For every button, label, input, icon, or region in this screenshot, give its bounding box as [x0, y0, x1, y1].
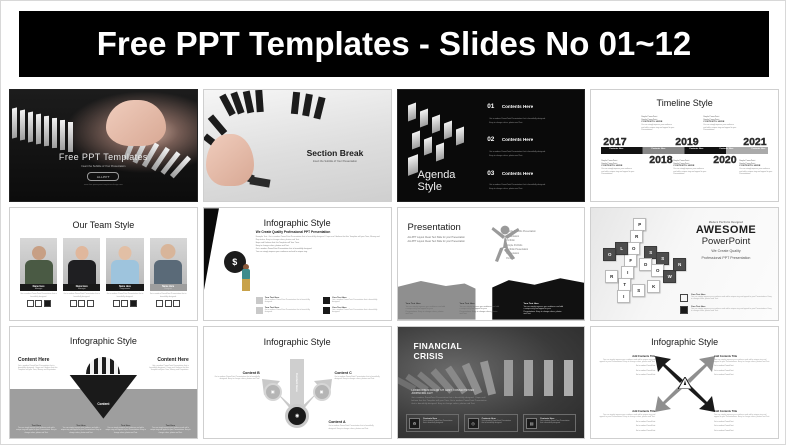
quadrant-link[interactable]: Get a modern PowerPoint	[714, 421, 772, 423]
agenda-item-heading: Contents Here	[502, 171, 533, 176]
content-a-desc: Get a modern PowerPoint Presentation tha…	[329, 425, 377, 430]
left-content: Content Here Get a modern PowerPoint Pre…	[18, 357, 58, 372]
content-b-label: Content B Get a modern PowerPoint Presen…	[212, 371, 260, 381]
slide-thumbnail-09[interactable]: Infographic Style Content Here Get a mod…	[9, 326, 198, 439]
slide-07-title: Presentation	[408, 222, 461, 233]
cell-desc: You can simply impress your audience and…	[105, 427, 146, 434]
content-cell[interactable]: Text Here You can simply impress your au…	[150, 425, 191, 434]
quadrant-desc: You can simply impress your audience and…	[597, 359, 655, 364]
letter-tiles-photo: P R O F I T L O S S D O W N R I S K	[599, 218, 685, 304]
cell-desc: Get a modern PowerPoint Presentation tha…	[423, 420, 456, 425]
slide-11-title: FINANCIAL CRISIS	[414, 341, 463, 362]
content-a-title: Content A	[329, 420, 377, 424]
cell-desc: You can simply impress your audience and…	[61, 427, 102, 434]
quadrant-link[interactable]: Get a modern PowerPoint	[597, 365, 655, 367]
team-name-badge: Name Here Manager	[20, 284, 57, 291]
team-card[interactable]: Name Here Designer Get a modern PowerPoi…	[150, 238, 187, 307]
timeline-chip: Contents Here	[719, 148, 733, 150]
cell-desc: Get a modern PowerPoint Presentation tha…	[482, 420, 515, 425]
timeline-block-heading: CONTENTS HERE	[601, 165, 635, 167]
bottom-text-box: Your Text Here You can simply impress yo…	[406, 303, 446, 316]
slide-04-title: Timeline Style	[591, 98, 778, 108]
domino-curve-photo	[204, 90, 391, 201]
timeline-block-top: Simple PowerPoint Simple PowerPoint CONT…	[641, 116, 675, 132]
slide-06-heading: We Create Quality Professional PPT Prese…	[256, 230, 385, 234]
slide-grid: Free PPT Templates Insert the Subtitle o…	[9, 89, 779, 439]
slide-thumbnail-10[interactable]: Infographic Style Content Here ▣ ▣ ◉ Con…	[203, 326, 392, 439]
agenda-item[interactable]: 02 Contents Here Get a modern PowerPoint…	[487, 131, 579, 157]
page-root: Free PPT Templates - Slides No 01~12	[0, 0, 786, 445]
cell-desc: Get a modern PowerPoint Presentation tha…	[540, 420, 573, 425]
content-cell[interactable]: Text Here You can simply impress your au…	[61, 425, 102, 434]
team-photo	[106, 238, 143, 284]
quadrant-title: Add Contents Title	[714, 355, 772, 358]
letter-tile: I	[617, 290, 630, 303]
team-card-list: Name Here Manager Get a modern PowerPoin…	[20, 238, 187, 307]
cell-icon	[323, 297, 330, 304]
team-card[interactable]: Name Here Programmer Get a modern PowerP…	[106, 238, 143, 307]
content-c-desc: Get a modern PowerPoint Presentation tha…	[335, 376, 383, 381]
social-icons[interactable]	[106, 300, 143, 307]
team-role: Designer	[150, 288, 187, 290]
slide-01-subtitle: Insert the Subtitle of Your Presentation	[10, 165, 197, 168]
right-heading: Content Here	[149, 357, 189, 363]
letter-tile: S	[632, 284, 645, 297]
letter-tile: O	[603, 248, 616, 261]
cell-desc: Get a modern PowerPoint Presentation tha…	[265, 299, 317, 304]
cell-desc: Get a modern PowerPoint Presentation tha…	[265, 309, 317, 314]
social-icons[interactable]	[63, 300, 100, 307]
slide-thumbnail-02[interactable]: Section Break Insert the Subtitle of You…	[203, 89, 392, 202]
bottom-text-box: Your Text Here You can simply impress yo…	[524, 303, 564, 316]
timeline-block-bottom: Simple PowerPoint Simple PowerPoint CONT…	[673, 160, 707, 176]
quadrant-link[interactable]: Get a modern PowerPoint	[714, 430, 772, 432]
content-cell[interactable]: ◎ Contents Here Get a modern PowerPoint …	[464, 414, 518, 432]
agenda-item-line2: Easy to change colors, photos and Text.	[487, 122, 579, 125]
hand-illustration	[106, 100, 166, 146]
linkedin-icon[interactable]	[121, 300, 128, 307]
slide-11-title-line2: CRISIS	[414, 351, 463, 362]
twitter-icon[interactable]	[113, 300, 120, 307]
quadrant-link[interactable]: Get a modern PowerPoint	[714, 374, 772, 376]
slide-11-cells: ⚙ Contents Here Get a modern PowerPoint …	[406, 414, 577, 432]
timeline-block-bottom: Simple PowerPoint Simple PowerPoint CONT…	[739, 160, 773, 176]
header-banner: Free PPT Templates - Slides No 01~12	[19, 11, 769, 77]
gear-icon: ⚙	[409, 418, 420, 429]
facebook-icon[interactable]	[130, 300, 137, 307]
agenda-item-line1: Get a modern PowerPoint Presentation tha…	[487, 151, 579, 154]
quadrant-desc: You can simply impress your audience and…	[597, 414, 655, 419]
slide-02-title: Section Break	[288, 148, 383, 158]
timeline-chip: Contents Here	[651, 148, 665, 150]
timeline-block-heading: CONTENTS HERE	[673, 165, 707, 167]
slide-09-title: Infographic Style	[10, 336, 197, 346]
team-role: Programmer	[106, 288, 143, 290]
node-c-icon[interactable]: ▣	[313, 383, 331, 401]
agenda-item-line1: Get a modern PowerPoint Presentation tha…	[487, 118, 579, 121]
slide-06-cells: Your Text Here Get a modern PowerPoint P…	[256, 297, 385, 314]
team-card[interactable]: Name Here Manager Get a modern PowerPoin…	[20, 238, 57, 307]
timeline-block-body: You can simply impress your audience and…	[739, 168, 773, 176]
content-cell[interactable]: Text Here You can simply impress your au…	[16, 425, 57, 434]
agenda-item-number: 01	[487, 103, 494, 110]
quadrant-link[interactable]: Get a modern PowerPoint	[597, 425, 655, 427]
cell-icon	[256, 307, 263, 314]
box-desc: You can simply impress your audience and…	[406, 306, 446, 316]
slide-07-subtitle: ALLPPT Layout Clean Text Slide for your …	[408, 236, 470, 242]
timeline-year-2021: 2021	[743, 136, 766, 148]
agenda-item[interactable]: 03 Contents Here Get a modern PowerPoint…	[487, 164, 579, 190]
twitter-icon[interactable]	[70, 300, 77, 307]
node-b-icon[interactable]: ▣	[264, 383, 282, 401]
content-c-title: Content C	[335, 371, 383, 375]
team-name-badge: Name Here Programmer	[106, 284, 143, 291]
timeline-year-2018: 2018	[649, 154, 672, 166]
timeline-chip: Contents Here	[689, 148, 703, 150]
content-b-title: Content B	[212, 371, 260, 375]
agenda-item-number: 03	[487, 170, 494, 177]
globe-icon: ◎	[468, 418, 479, 429]
stem-arrow: Content Here	[290, 359, 304, 407]
quadrant-top-left: Add Contents Title You can simply impres…	[597, 355, 655, 377]
quadrant-title: Add Contents Title	[597, 355, 655, 358]
letter-tile: K	[647, 280, 660, 293]
quadrant-link[interactable]: Get a modern PowerPoint	[597, 370, 655, 372]
content-cell[interactable]: Your Text Here Get a modern PowerPoint P…	[323, 297, 384, 304]
slide-thumbnail-12[interactable]: Infographic Style Add Contents Title You…	[590, 326, 779, 439]
agenda-item-heading: Contents Here	[502, 104, 533, 109]
agenda-title-line2: Style	[418, 181, 456, 193]
quadrant-title: Add Contents Title	[597, 410, 655, 413]
letter-tile: W	[663, 270, 676, 283]
slide-thumbnail-08[interactable]: P R O F I T L O S S D O W N R I S K Mode…	[590, 207, 779, 320]
right-content: Content Here Get a modern PowerPoint Pre…	[149, 357, 189, 372]
content-cell[interactable]: Your Text Here Get a modern PowerPoint P…	[256, 297, 317, 304]
timeline-block-heading: CONTENTS HERE	[739, 165, 773, 167]
team-desc: Get a modern PowerPoint Presentation tha…	[106, 293, 143, 298]
team-name-badge: Name Here Manager	[63, 284, 100, 291]
slide-thumbnail-07[interactable]: Presentation ALLPPT Layout Clean Text Sl…	[397, 207, 586, 320]
timeline-chip: Contents Here	[751, 148, 765, 150]
content-c-label: Content C Get a modern PowerPoint Presen…	[335, 371, 383, 381]
timeline-block-body: You can simply impress your audience and…	[641, 124, 675, 132]
slide-08-title-awesome: AWESOME	[680, 224, 772, 236]
timeline-year-2017: 2017	[603, 136, 626, 148]
twitter-icon[interactable]	[27, 300, 34, 307]
checkbox-icon[interactable]	[680, 294, 688, 302]
content-a-label: Content A Get a modern PowerPoint Presen…	[329, 420, 377, 430]
linkedin-icon[interactable]	[35, 300, 42, 307]
quadrant-desc: You can simply impress your audience and…	[714, 359, 772, 364]
quadrant-title: Add Contents Title	[714, 410, 772, 413]
slide-12-title: Infographic Style	[591, 337, 778, 347]
box-desc: You can simply impress your audience and…	[460, 306, 500, 316]
page-title: Free PPT Templates - Slides No 01~12	[97, 25, 692, 63]
slide-01-url: www.free-powerpoint-templates-design.com	[10, 184, 197, 186]
content-b-desc: Get a modern PowerPoint Presentation tha…	[212, 376, 260, 381]
quadrant-link[interactable]: Get a modern PowerPoint	[597, 421, 655, 423]
row-desc: You can simply impress your audience and…	[691, 296, 772, 301]
facebook-icon[interactable]	[87, 300, 94, 307]
agenda-item-heading: Contents Here	[502, 137, 533, 142]
allppt-logo: ALLPPT	[87, 172, 119, 181]
cell-icon	[323, 307, 330, 314]
timeline-chip: Contents Here	[609, 148, 623, 150]
slide-09-cells: Text Here You can simply impress your au…	[16, 425, 191, 434]
timeline-block-heading: CONTENTS HERE	[641, 121, 675, 123]
team-desc: Get a modern PowerPoint Presentation tha…	[20, 293, 57, 298]
quadrant-desc: You can simply impress your audience and…	[714, 414, 772, 419]
cell-icon	[256, 297, 263, 304]
content-cell[interactable]: Your Text Here Get a modern PowerPoint P…	[323, 307, 384, 314]
slide-06-text: We Create Quality Professional PPT Prese…	[256, 230, 385, 253]
timeline-block-heading: CONTENTS HERE	[703, 121, 737, 123]
team-card[interactable]: Name Here Manager Get a modern PowerPoin…	[63, 238, 100, 307]
timeline-block-top: Simple PowerPoint Simple PowerPoint CONT…	[703, 116, 737, 132]
quadrant-bottom-right: Add Contents Title You can simply impres…	[714, 410, 772, 432]
agenda-item[interactable]: 04 Contents Here Get a modern PowerPoint…	[487, 198, 579, 203]
linkedin-icon[interactable]	[165, 300, 172, 307]
hand-illustration	[206, 134, 254, 186]
bottom-text-box: Your Text Here You can simply impress yo…	[460, 303, 500, 316]
slide-08-title-powerpoint: PowerPoint	[680, 236, 772, 247]
timeline-year-2019: 2019	[675, 136, 698, 148]
checkbox-icon[interactable]	[680, 306, 688, 314]
timeline-block-bottom: Simple PowerPoint Simple PowerPoint CONT…	[601, 160, 635, 176]
slide-08-rows: Your Text Here You can simply impress yo…	[680, 290, 772, 314]
quadrant-link[interactable]: Get a modern PowerPoint	[597, 374, 655, 376]
timeline-track	[601, 147, 768, 154]
agenda-item-line1: Get a modern PowerPoint Presentation tha…	[487, 184, 579, 187]
quadrant-link[interactable]: Get a modern PowerPoint	[597, 430, 655, 432]
umbrella-icon	[86, 357, 120, 374]
content-row[interactable]: Your Text Here You can simply impress yo…	[680, 294, 772, 302]
content-cell[interactable]: ▤ Contents Here Get a modern PowerPoint …	[523, 414, 577, 432]
facebook-icon[interactable]	[44, 300, 51, 307]
quadrant-bottom-left: Add Contents Title You can simply impres…	[597, 410, 655, 432]
box-desc: You can simply impress your audience and…	[524, 306, 564, 316]
team-photo	[63, 238, 100, 284]
slide-02-caption: Section Break Insert the Subtitle of You…	[288, 148, 383, 163]
slide-05-title: Our Team Style	[10, 220, 197, 230]
slide-thumbnail-06[interactable]: Infographic Style $ We Create Quality Pr…	[203, 207, 392, 320]
team-role: Manager	[63, 288, 100, 290]
slide-03-title: Agenda Style	[418, 169, 456, 193]
timeline-year-2020: 2020	[713, 154, 736, 166]
left-heading: Content Here	[18, 357, 58, 363]
slide-thumbnail-03[interactable]: Agenda Style 01 Contents Here Get a mode…	[397, 89, 586, 202]
person-legs	[242, 279, 250, 291]
cell-desc: Get a modern PowerPoint Presentation tha…	[332, 309, 384, 314]
slide-11-lorem: LOREM IPSUM DOLOR SIT AMET, CONSECTETUER…	[412, 389, 488, 406]
agenda-title-line1: Agenda	[418, 169, 456, 181]
slide-thumbnail-05[interactable]: Our Team Style Name Here Manager Get a m…	[9, 207, 198, 320]
warning-triangle-icon	[678, 376, 692, 388]
team-name-badge: Name Here Designer	[150, 284, 187, 291]
lorem-body: Get a modern PowerPoint Presentation tha…	[412, 397, 488, 405]
lorem-heading: LOREM IPSUM DOLOR SIT AMET, CONSECTETUER…	[412, 389, 475, 395]
agenda-item[interactable]: 01 Contents Here Get a modern PowerPoint…	[487, 98, 579, 124]
agenda-item-line2: Easy to change colors, photos and Text.	[487, 155, 579, 158]
cell-desc: You can simply impress your audience and…	[150, 427, 191, 434]
quadrant-link[interactable]: Get a modern PowerPoint	[714, 370, 772, 372]
quadrant-top-right: Add Contents Title You can simply impres…	[714, 355, 772, 377]
slide-08-text: Modern Portfolio Designed AWESOME PowerP…	[680, 222, 772, 261]
team-photo	[150, 238, 187, 284]
jumping-person-icon	[486, 224, 522, 268]
social-icons[interactable]	[20, 300, 57, 307]
content-row[interactable]: Your Text Here You can simply impress yo…	[680, 306, 772, 314]
slide-08-tagline1: We Create Quality	[680, 249, 772, 254]
quadrant-link[interactable]: Get a modern PowerPoint	[714, 365, 772, 367]
letter-tile: L	[615, 242, 628, 255]
row-desc: You can simply impress your audience and…	[691, 308, 772, 313]
team-role: Manager	[20, 288, 57, 290]
team-desc: Get a modern PowerPoint Presentation tha…	[63, 293, 100, 298]
slide-thumbnail-01[interactable]: Free PPT Templates Insert the Subtitle o…	[9, 89, 198, 202]
content-cell[interactable]: Your Text Here Get a modern PowerPoint P…	[256, 307, 317, 314]
person-illustration	[240, 263, 252, 293]
slide-06-title: Infographic Style	[204, 218, 391, 228]
right-desc: Get a modern PowerPoint Presentation tha…	[149, 365, 189, 372]
content-cell[interactable]: ⚙ Contents Here Get a modern PowerPoint …	[406, 414, 460, 432]
slide-01-caption: Free PPT Templates Insert the Subtitle o…	[10, 152, 197, 186]
linkedin-icon[interactable]	[78, 300, 85, 307]
slide-02-subtitle: Insert the Subtitle of Your Presentation	[288, 160, 383, 163]
slide-10-title: Infographic Style	[204, 337, 391, 347]
agenda-items: 01 Contents Here Get a modern PowerPoint…	[487, 98, 579, 202]
left-desc: Get a modern PowerPoint Presentation tha…	[18, 365, 58, 372]
agenda-item-number: 02	[487, 136, 494, 143]
twitter-icon[interactable]	[156, 300, 163, 307]
cell-desc: You can simply impress your audience and…	[16, 427, 57, 434]
team-photo	[20, 238, 57, 284]
timeline-block-body: You can simply impress your audience and…	[673, 168, 707, 176]
letter-tile: R	[605, 270, 618, 283]
slide-thumbnail-11[interactable]: FINANCIAL CRISIS LOREM IPSUM DOLOR SIT A…	[397, 326, 586, 439]
slide-thumbnail-04[interactable]: Timeline Style 2017 2018 2019 2020 2021 …	[590, 89, 779, 202]
node-a-icon[interactable]: ◉	[285, 404, 309, 428]
social-icons[interactable]	[150, 300, 187, 307]
cell-desc: Get a modern PowerPoint Presentation tha…	[332, 299, 384, 304]
slide-01-title: Free PPT Templates	[10, 152, 197, 162]
team-desc: Get a modern PowerPoint Presentation tha…	[150, 293, 187, 298]
timeline-block-body: You can simply impress your audience and…	[601, 168, 635, 176]
agenda-item-line2: Easy to change colors, photos and Text.	[487, 188, 579, 191]
slide-06-bullet: You can simply impress your audience and…	[256, 251, 385, 254]
slide-08-tagline2: Professional PPT Presentation	[680, 256, 772, 261]
briefcase-icon: ▤	[526, 418, 537, 429]
quadrant-link[interactable]: Get a modern PowerPoint	[714, 425, 772, 427]
timeline-block-body: You can simply impress your audience and…	[703, 124, 737, 132]
facebook-icon[interactable]	[173, 300, 180, 307]
content-cell[interactable]: Text Here You can simply impress your au…	[105, 425, 146, 434]
slide-11-title-line1: FINANCIAL	[414, 341, 463, 352]
